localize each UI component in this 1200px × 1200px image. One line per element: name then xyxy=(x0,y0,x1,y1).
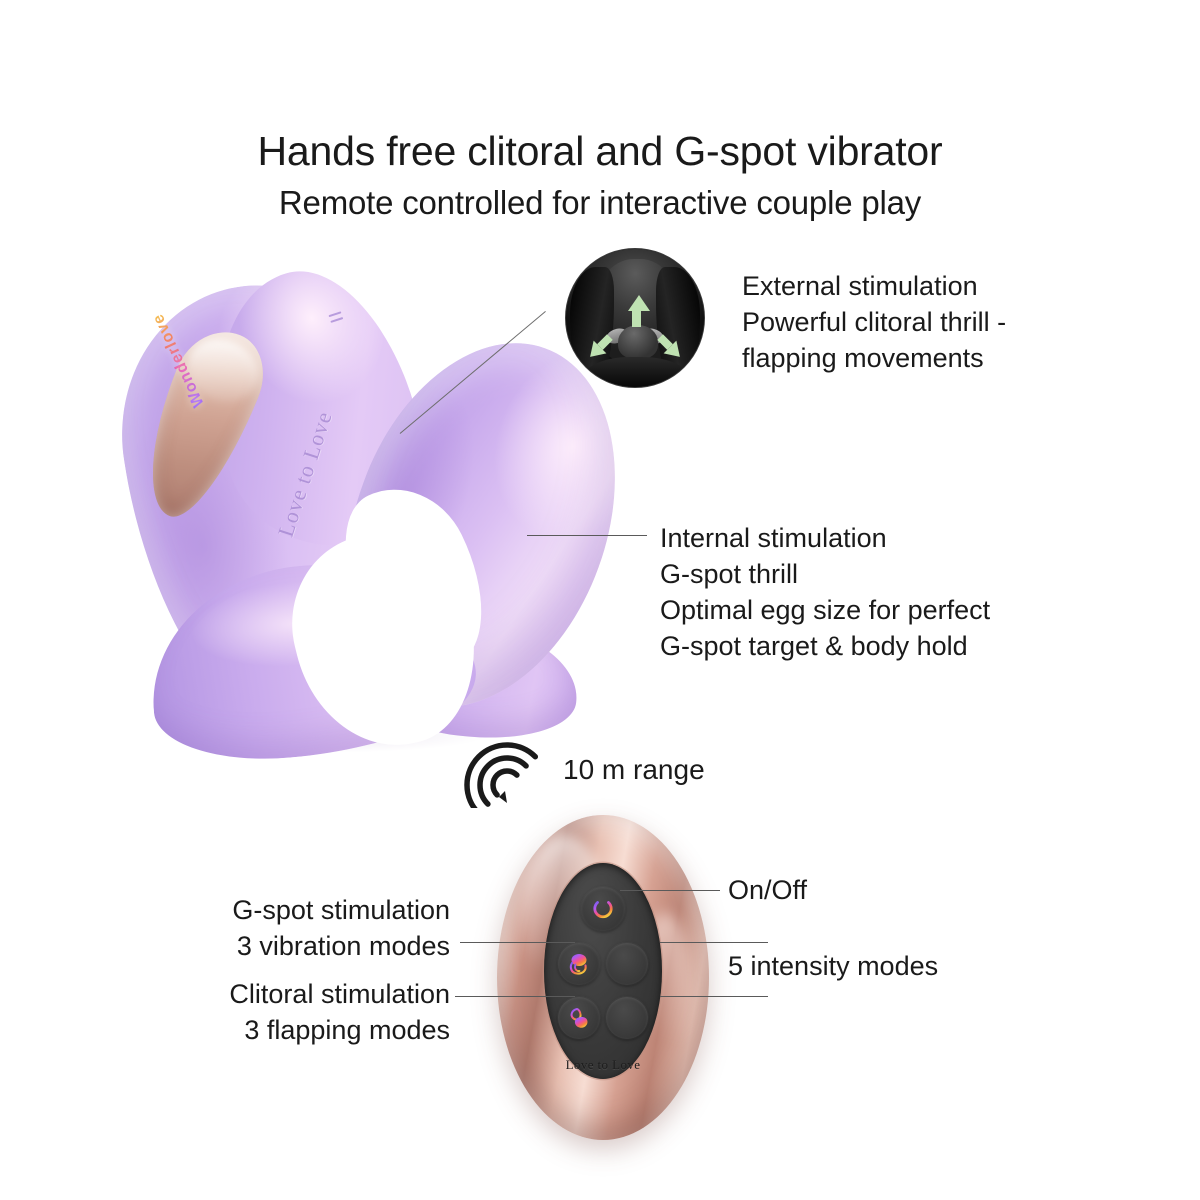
flapping-arrow-up-stem xyxy=(632,309,641,327)
leader-line-clitoral xyxy=(455,996,575,997)
range-label: 10 m range xyxy=(563,752,705,788)
intensity-increase-button[interactable] xyxy=(606,943,648,985)
internal-stimulation-text: Internal stimulation G-spot thrill Optim… xyxy=(660,520,990,664)
internal-line-2: G-spot thrill xyxy=(660,556,990,592)
intensity-modes-label: 5 intensity modes xyxy=(728,948,938,984)
remote-brand-label: Love to Love xyxy=(544,1057,662,1073)
clitoral-mode-button[interactable] xyxy=(558,997,600,1039)
leader-line-gspot xyxy=(460,942,575,943)
page-subtitle: Remote controlled for interactive couple… xyxy=(0,184,1200,222)
clitoral-icon xyxy=(566,1006,592,1030)
leader-line-minus xyxy=(660,996,768,997)
external-line-1: External stimulation xyxy=(742,268,1006,304)
internal-line-3: Optimal egg size for perfect xyxy=(660,592,990,628)
gspot-label-line-2: 3 vibration modes xyxy=(150,928,450,964)
infographic-canvas: Hands free clitoral and G-spot vibrator … xyxy=(0,0,1200,1200)
clitoral-stimulation-label: Clitoral stimulation 3 flapping modes xyxy=(150,976,450,1048)
plus-icon xyxy=(614,951,640,977)
external-line-3: flapping movements xyxy=(742,340,1006,376)
internal-line-1: Internal stimulation xyxy=(660,520,990,556)
remote-control[interactable]: Love to Love xyxy=(497,815,709,1140)
remote-button-panel: Love to Love xyxy=(544,863,662,1079)
g-spot-mode-button[interactable] xyxy=(558,943,600,985)
minus-icon xyxy=(614,1005,640,1031)
leader-line-internal xyxy=(527,535,647,536)
wifi-signal-icon xyxy=(455,723,560,808)
clitoral-label-line-1: Clitoral stimulation xyxy=(150,976,450,1012)
external-stimulation-zoom-circle xyxy=(565,248,705,388)
leader-line-plus xyxy=(660,942,768,943)
clitoral-label-line-2: 3 flapping modes xyxy=(150,1012,450,1048)
flapping-membrane xyxy=(618,325,658,359)
gspot-stimulation-label: G-spot stimulation 3 vibration modes xyxy=(150,892,450,964)
gspot-label-line-1: G-spot stimulation xyxy=(150,892,450,928)
page-title: Hands free clitoral and G-spot vibrator xyxy=(0,128,1200,175)
intensity-decrease-button[interactable] xyxy=(606,997,648,1039)
leader-line-on-off xyxy=(620,890,720,891)
power-button[interactable] xyxy=(581,887,625,931)
on-off-label: On/Off xyxy=(728,872,807,908)
g-spot-icon xyxy=(566,952,592,976)
power-icon xyxy=(590,896,616,922)
external-line-2: Powerful clitoral thrill - xyxy=(742,304,1006,340)
internal-line-4: G-spot target & body hold xyxy=(660,628,990,664)
external-stimulation-text: External stimulation Powerful clitoral t… xyxy=(742,268,1006,376)
